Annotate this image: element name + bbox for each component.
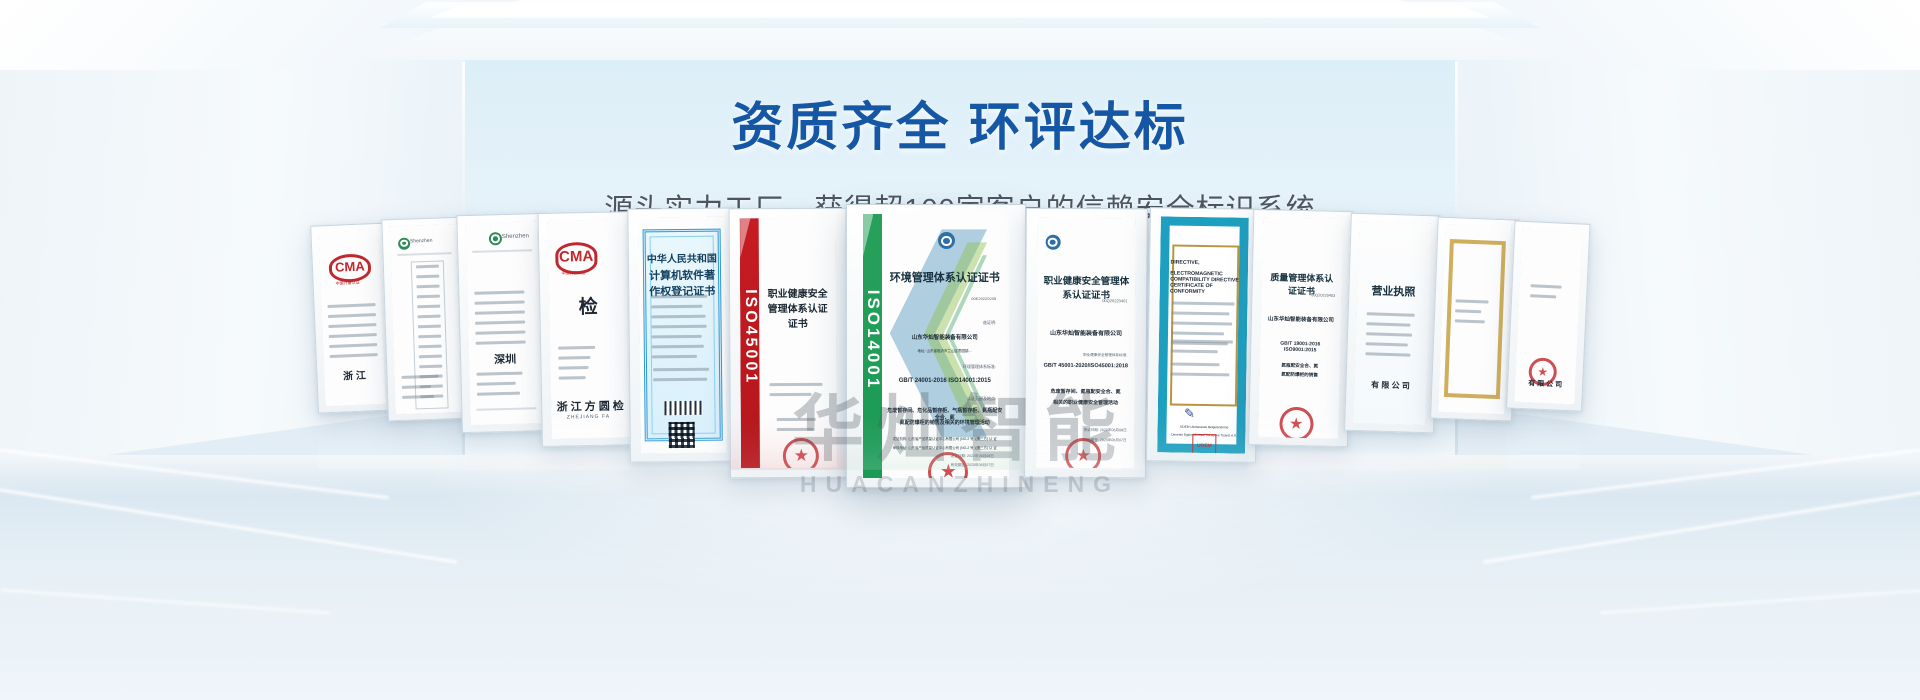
accreditation-logo-icon — [938, 232, 955, 249]
issuer-note-2: 审核地址: 山东省产品质量认证中心有限公司 (NO-2 号 )(第三方) 认 证 — [886, 445, 1003, 450]
certificate-title: 职业健康安全管理体系认证证书 — [763, 285, 832, 330]
certificate-title: 检 — [553, 291, 623, 319]
certificate-footer: 有 限 公 司 — [1518, 377, 1572, 389]
certificate-title: 职业健康安全管理体系认证证书 — [1043, 272, 1130, 301]
org-logo-icon — [398, 237, 410, 249]
org-logo-icon — [489, 232, 502, 245]
certificate-frame-iso14001-featured[interactable]: ISO14001 环境管理体系认证证书 00E20220205 兹证明: 山东华… — [846, 204, 1026, 488]
certificate-number: 00Q20220401 — [1102, 298, 1127, 303]
official-seal-icon — [783, 438, 819, 469]
certificate-frame-cma-zhejiang-2[interactable]: CMA 中国计量认证 检 浙 江 方 圆 检 ZHEJIANG FA — [538, 211, 640, 447]
certificate-title-line1: 中华人民共和国 — [644, 250, 721, 266]
certificate-footer: 浙 江 — [327, 366, 381, 383]
company-name: 山东华灿智能装备有限公司 — [1043, 328, 1130, 338]
qr-code-icon — [669, 422, 695, 448]
signature-icon: ✎ — [1184, 405, 1195, 421]
certificate-gallery: CMA 中国计量认证 浙 江 Shenzhen — [0, 0, 1920, 700]
ce-title-line1: DIRECTIVE, — [1170, 259, 1241, 266]
scope-line-2: 氮配防爆柜的销售 — [1264, 371, 1335, 379]
udem-logo-icon: UDEM — [1192, 434, 1216, 454]
company-name: 山东华灿智能装备有限公司 — [1265, 314, 1336, 324]
issue-date: 发证日期: 2022年06月08日 — [1083, 428, 1126, 433]
banner-stage: 资质齐全 环评达标 源头实力工厂、获得超100家客户的信赖安全标识系统 CMA … — [0, 0, 1920, 700]
certificate-frame-business-license[interactable]: 营业执照 有 限 公 司 — [1344, 213, 1441, 434]
certificate-title: 环境管理体系认证证书 — [886, 269, 1003, 285]
certificate-frame-member-cert[interactable]: 有 限 公 司 — [1506, 220, 1590, 411]
scope-line-2: 相关的职业健康安全管理活动 — [1042, 399, 1129, 407]
certificate-frame-ce-emc-udem[interactable]: DIRECTIVE, ELECTROMAGNETIC COMPATIBILITY… — [1146, 207, 1260, 463]
certificate-frame-software-copyright[interactable]: 中华人民共和国 计算机软件著作权登记证书 — [627, 207, 738, 462]
scope-label: 认证范围及地点: — [967, 396, 996, 402]
iso45001-spine-label: ISO45001 — [741, 289, 760, 385]
org-label: Shenzhen — [502, 233, 529, 240]
barcode-icon — [664, 401, 702, 415]
certificate-footer: 有 限 公 司 — [1359, 379, 1423, 392]
standard-code: GB/T 45001-2020/ISO45001:2018 — [1042, 363, 1129, 370]
scope-line-1: 危废暂存间、氮瓶配安全合、氮 — [1042, 388, 1129, 396]
accreditation-logo-icon — [1045, 235, 1060, 250]
issuer-note-1: 发证机构: 山东省产品质量认证中心有限公司 (NO-2 号 )(第三方) 认 证 — [886, 436, 1003, 441]
certificate-footer: 浙 江 方 圆 检 — [555, 398, 625, 415]
certificate-title: 营业执照 — [1361, 282, 1425, 300]
official-seal-icon — [1279, 406, 1314, 438]
scope-line-1: 氮瓶配安全合、氮 — [1264, 362, 1335, 370]
company-label: 兹证明: — [983, 320, 996, 326]
standard-label: 职业健康安全管理体系标准: — [1083, 353, 1127, 358]
certificate-footer: 深圳 — [473, 350, 537, 368]
certificate-frame-iso9001[interactable]: 质量管理体系认证证书 00Q20220403 山东华灿智能装备有限公司 GB/T… — [1248, 209, 1353, 447]
cma-badge-sub: 中国计量认证 — [552, 270, 595, 277]
certificate-number: 00Q20220403 — [1311, 293, 1335, 298]
company-address: 地址: 山东省临沂市兰山区枣园镇… — [886, 349, 1003, 354]
cma-badge-sub: 中国计量认证 — [326, 279, 369, 287]
official-seal-icon — [1065, 438, 1101, 469]
certificate-frame-iso45001-cn[interactable]: 职业健康安全管理体系认证证书 00Q20220401 山东华灿智能装备有限公司 … — [1024, 208, 1148, 479]
standard-label: 环境管理体系标准: — [963, 364, 996, 370]
certificate-frame-iso45001[interactable]: ISO45001 职业健康安全管理体系认证证书 — [729, 208, 848, 479]
standard-code: GB/T 19001-2016 ISO9001:2015 — [1265, 340, 1336, 354]
company-name: 山东华灿智能装备有限公司 — [886, 333, 1003, 341]
standard-code: GB/T 24001-2016 ISO14001:2015 — [886, 378, 1003, 384]
certificate-footer-en: ZHEJIANG FA — [567, 413, 610, 420]
ce-title-line3: CERTIFICATE OF CONFORMITY — [1170, 283, 1241, 296]
scope-line-2: 氮配防爆柜的销售及相关的环境管理活动 — [886, 419, 1003, 426]
certificate-number: 00E20220205 — [971, 296, 996, 301]
org-label: Shenzhen — [410, 238, 433, 245]
iso45001-spine: ISO45001 — [740, 218, 760, 469]
